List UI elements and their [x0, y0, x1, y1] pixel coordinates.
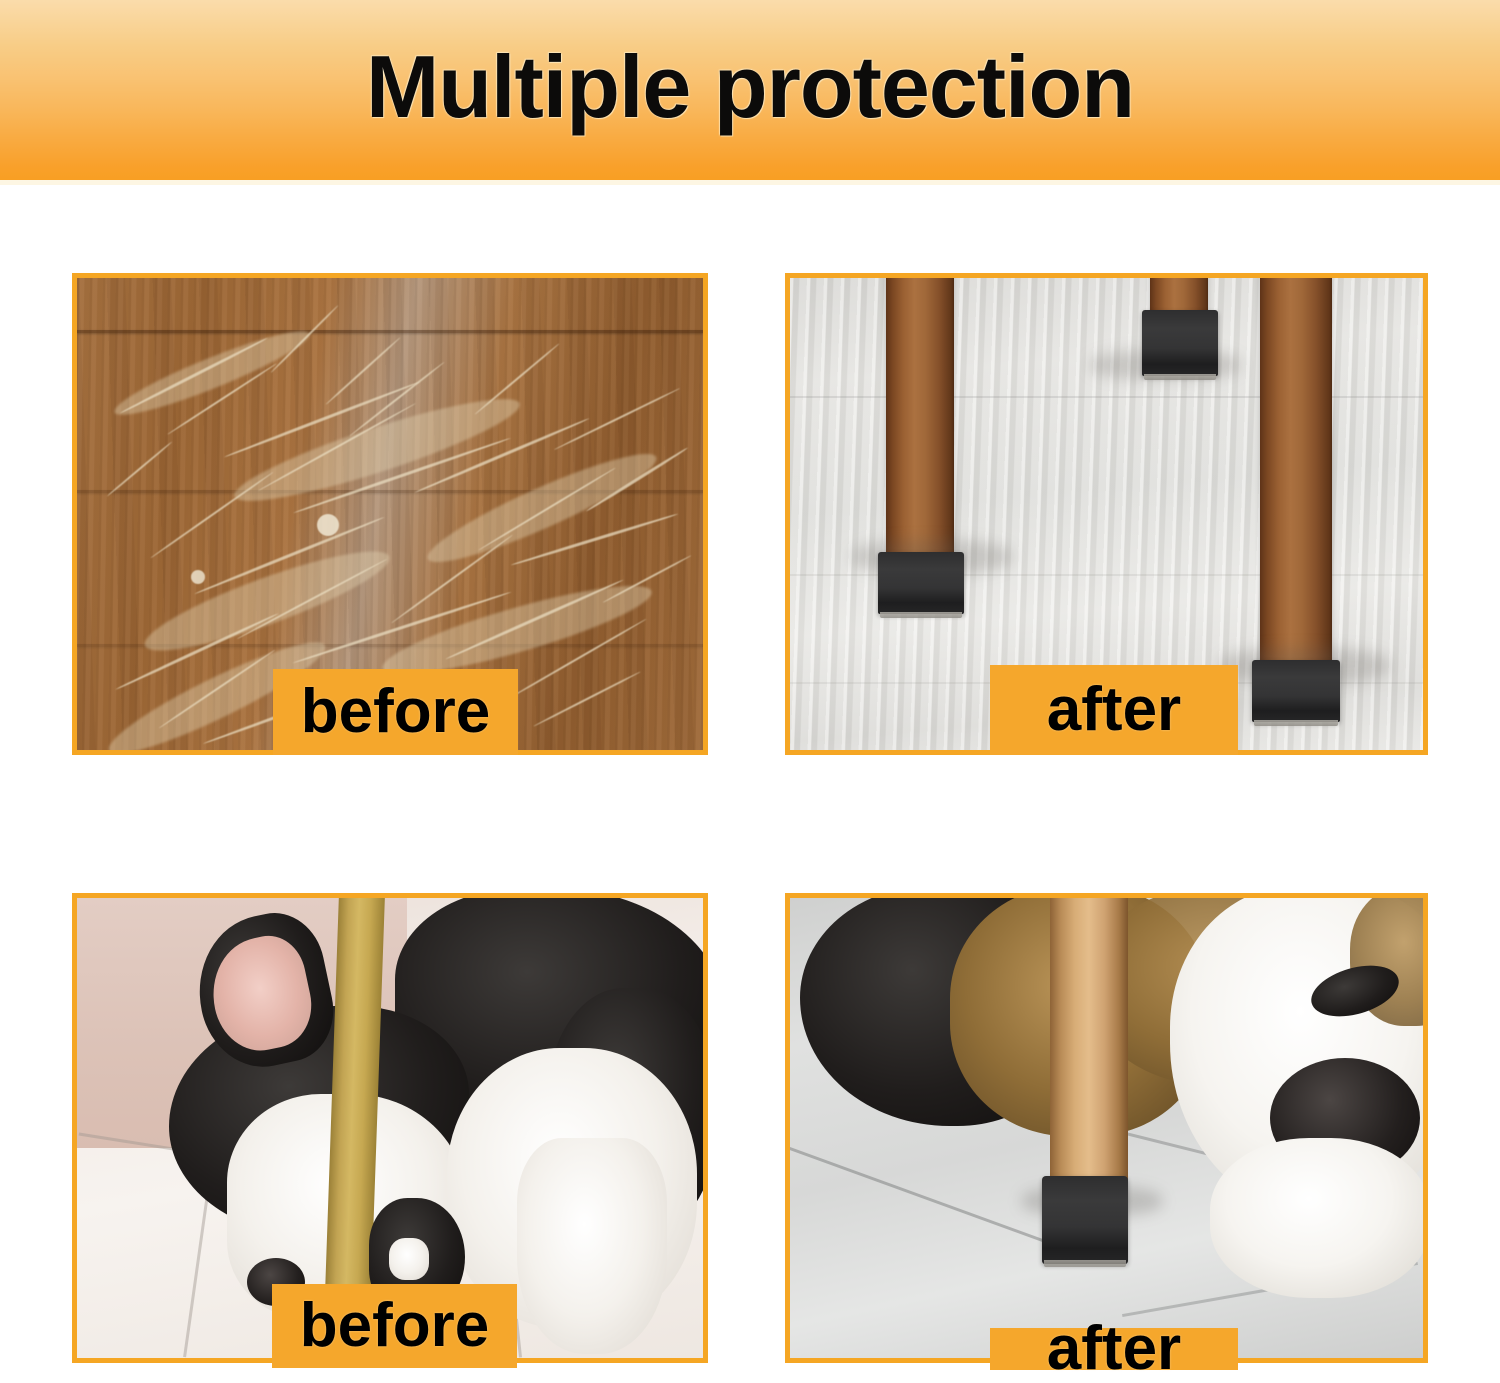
- scuff-dot: [317, 514, 339, 536]
- cap-felt-pad: [880, 612, 962, 618]
- scratch-line: [554, 387, 681, 450]
- cap-felt-pad: [1254, 720, 1338, 726]
- scratch-line: [106, 441, 172, 497]
- scuff-mark: [228, 383, 527, 518]
- table-leg-left: [886, 278, 954, 556]
- panel-protected-legs: after: [785, 273, 1428, 755]
- dog-paw: [517, 1138, 667, 1354]
- grey-tile-floor: [790, 898, 1423, 1358]
- scratch-line: [119, 336, 268, 414]
- leg-cap-left: [878, 552, 964, 614]
- scratch-line: [150, 471, 274, 559]
- scuff-dot: [191, 570, 205, 584]
- leg-cap: [1042, 1176, 1128, 1264]
- photo-dog-sleeping: [790, 898, 1423, 1358]
- page-title: Multiple protection: [0, 36, 1500, 138]
- header-underline: [0, 180, 1500, 185]
- cap-felt-pad: [1144, 374, 1216, 380]
- table-leg-right: [1260, 278, 1332, 664]
- label-before: before: [273, 669, 518, 755]
- scratch-line: [533, 671, 641, 727]
- header-banner: Multiple protection: [0, 0, 1500, 180]
- dog-tooth: [389, 1238, 429, 1280]
- dog-jaw-white: [1210, 1138, 1423, 1298]
- label-after: after: [990, 1328, 1238, 1370]
- panel-dog-chewing: before: [72, 893, 708, 1363]
- label-after: after: [990, 665, 1238, 755]
- panel-scratched-floor: before: [72, 273, 708, 755]
- cap-felt-pad: [1044, 1260, 1126, 1267]
- scratch-line: [325, 337, 401, 405]
- chair-leg: [1050, 898, 1128, 1186]
- leg-cap-rear: [1142, 310, 1218, 376]
- scuff-mark: [109, 320, 315, 426]
- scuff-mark: [137, 535, 397, 667]
- panel-dog-sleeping: after: [785, 893, 1428, 1363]
- leg-cap-right: [1252, 660, 1340, 722]
- label-before: before: [272, 1284, 517, 1368]
- plank-seam: [77, 330, 703, 333]
